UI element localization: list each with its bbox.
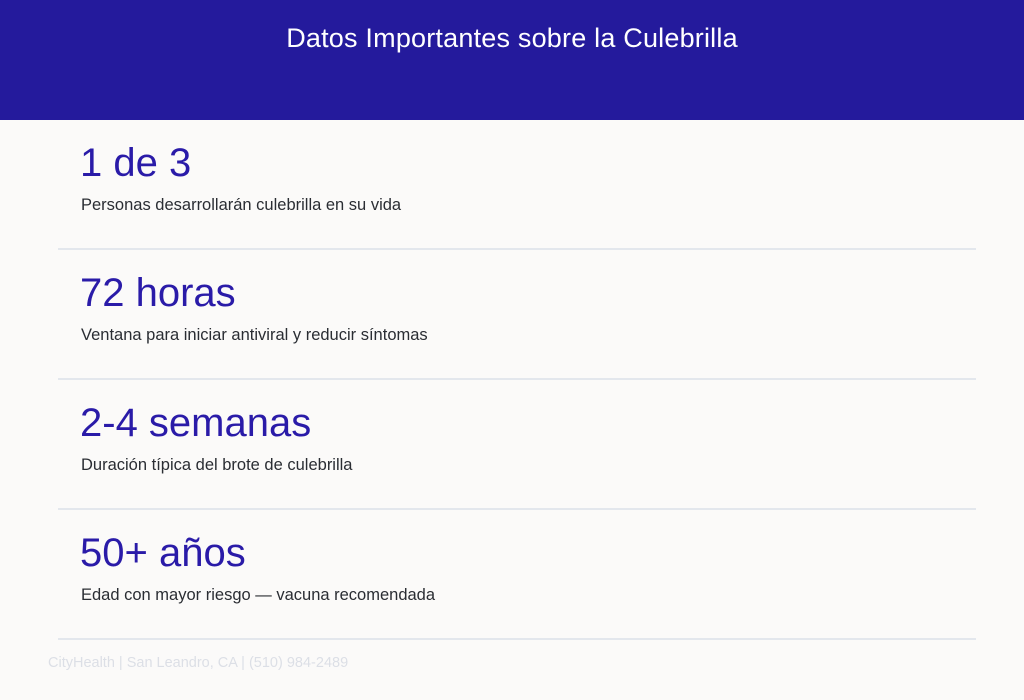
stat-value: 1 de 3: [80, 138, 976, 188]
stat-value: 50+ años: [80, 528, 976, 578]
stat-block: 50+ años Edad con mayor riesgo — vacuna …: [0, 510, 1024, 640]
stat-value: 2-4 semanas: [80, 398, 976, 448]
stat-label: Duración típica del brote de culebrilla: [81, 454, 976, 476]
stat-value: 72 horas: [80, 268, 976, 318]
page-title: Datos Importantes sobre la Culebrilla: [286, 22, 738, 54]
stats-list: 1 de 3 Personas desarrollarán culebrilla…: [0, 120, 1024, 645]
stat-block: 1 de 3 Personas desarrollarán culebrilla…: [0, 120, 1024, 250]
stat-block: 2-4 semanas Duración típica del brote de…: [0, 380, 1024, 510]
footer-attribution: CityHealth | San Leandro, CA | (510) 984…: [48, 653, 976, 673]
stat-label: Ventana para iniciar antiviral y reducir…: [81, 324, 976, 346]
header-band: Datos Importantes sobre la Culebrilla: [0, 0, 1024, 120]
stat-label: Personas desarrollarán culebrilla en su …: [81, 194, 976, 216]
stat-block: 72 horas Ventana para iniciar antiviral …: [0, 250, 1024, 380]
infographic-root: Datos Importantes sobre la Culebrilla 1 …: [0, 0, 1024, 700]
stat-label: Edad con mayor riesgo — vacuna recomenda…: [81, 584, 976, 606]
footer: CityHealth | San Leandro, CA | (510) 984…: [0, 645, 1024, 700]
